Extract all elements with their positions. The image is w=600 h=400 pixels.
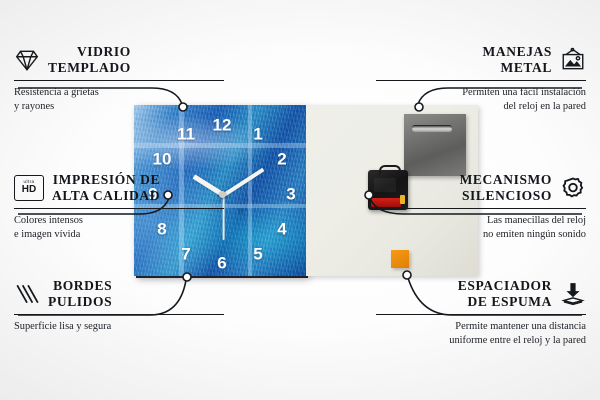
callout-vidrio-templado: VIDRIO TEMPLADO Resistencia a grietas y … bbox=[14, 44, 224, 114]
ultra-hd-icon: ultra HD bbox=[14, 175, 44, 201]
callout-title-line2: DE ESPUMA bbox=[458, 294, 552, 310]
callout-title-line1: BORDES bbox=[48, 278, 112, 294]
callout-desc-line2: y rayones bbox=[14, 100, 224, 114]
callout-desc-line2: e imagen vívida bbox=[14, 228, 224, 242]
clock-numeral-3: 3 bbox=[286, 186, 295, 203]
callout-title-line2: TEMPLADO bbox=[48, 60, 131, 76]
callout-rule bbox=[14, 80, 224, 82]
callout-rule bbox=[376, 80, 586, 82]
callout-rule bbox=[14, 314, 224, 316]
callout-desc-line1: Las manecillas del reloj bbox=[376, 214, 586, 228]
callout-title-line1: IMPRESIÓN DE bbox=[52, 172, 160, 188]
callout-desc-line2: uniforme entre el reloj y la pared bbox=[376, 334, 586, 348]
callout-desc-line2: del reloj en la pared bbox=[376, 100, 586, 114]
callout-desc-line1: Permiten una fácil instalación bbox=[376, 86, 586, 100]
ultra-hd-icon-main: HD bbox=[22, 185, 36, 195]
callout-title-line1: MANEJAS bbox=[483, 44, 552, 60]
foam-spacer bbox=[391, 250, 409, 268]
clock-numeral-7: 7 bbox=[181, 246, 190, 263]
callout-title-line1: ESPACIADOR bbox=[458, 278, 552, 294]
callout-bordes-pulidos: BORDES PULIDOS Superficie lisa y segura bbox=[14, 278, 224, 334]
clock-numeral-10: 10 bbox=[153, 151, 172, 168]
clock-numeral-2: 2 bbox=[277, 151, 286, 168]
callout-title-line1: MECANISMO bbox=[460, 172, 552, 188]
foam-spacer-icon bbox=[560, 281, 586, 307]
callout-desc-line1: Permite mantener una distancia bbox=[376, 320, 586, 334]
callout-desc-line1: Resistencia a grietas bbox=[14, 86, 224, 100]
callout-rule bbox=[376, 314, 586, 316]
callout-title-line2: SILENCIOSO bbox=[460, 188, 552, 204]
clock-numeral-4: 4 bbox=[277, 221, 286, 238]
metal-hanger-plate bbox=[404, 114, 466, 176]
callout-manejas-metal: MANEJAS METAL Permiten una fácil instala… bbox=[376, 44, 586, 114]
clock-numeral-12: 12 bbox=[213, 117, 232, 134]
callout-desc-line2: no emiten ningún sonido bbox=[376, 228, 586, 242]
callout-rule bbox=[376, 208, 586, 210]
callout-title-line2: ALTA CALIDAD bbox=[52, 188, 160, 204]
clock-numeral-5: 5 bbox=[253, 246, 262, 263]
clock-numeral-1: 1 bbox=[253, 126, 262, 143]
callout-desc-line1: Superficie lisa y segura bbox=[14, 320, 224, 334]
face-grid-line bbox=[134, 143, 306, 148]
clock-numeral-11: 11 bbox=[177, 126, 195, 143]
picture-frame-icon bbox=[560, 47, 586, 73]
callout-impresion-alta-calidad: ultra HD IMPRESIÓN DE ALTA CALIDAD Color… bbox=[14, 172, 224, 242]
gear-icon bbox=[560, 175, 586, 201]
infographic-canvas: 12 1 2 3 4 5 6 7 8 9 10 11 bbox=[0, 0, 600, 400]
polished-edges-icon bbox=[14, 281, 40, 307]
callout-title-line2: PULIDOS bbox=[48, 294, 112, 310]
callout-title-line2: METAL bbox=[483, 60, 552, 76]
hanger-keyhole-slot bbox=[412, 125, 452, 132]
clock-numeral-6: 6 bbox=[217, 255, 226, 272]
callout-desc-line1: Colores intensos bbox=[14, 214, 224, 228]
callout-rule bbox=[14, 208, 224, 210]
callout-espaciador-espuma: ESPACIADOR DE ESPUMA Permite mantener un… bbox=[376, 278, 586, 348]
callout-mecanismo-silencioso: MECANISMO SILENCIOSO Las manecillas del … bbox=[376, 172, 586, 242]
face-grid-line bbox=[248, 105, 252, 276]
diamond-icon bbox=[14, 47, 40, 73]
callout-title-line1: VIDRIO bbox=[48, 44, 131, 60]
